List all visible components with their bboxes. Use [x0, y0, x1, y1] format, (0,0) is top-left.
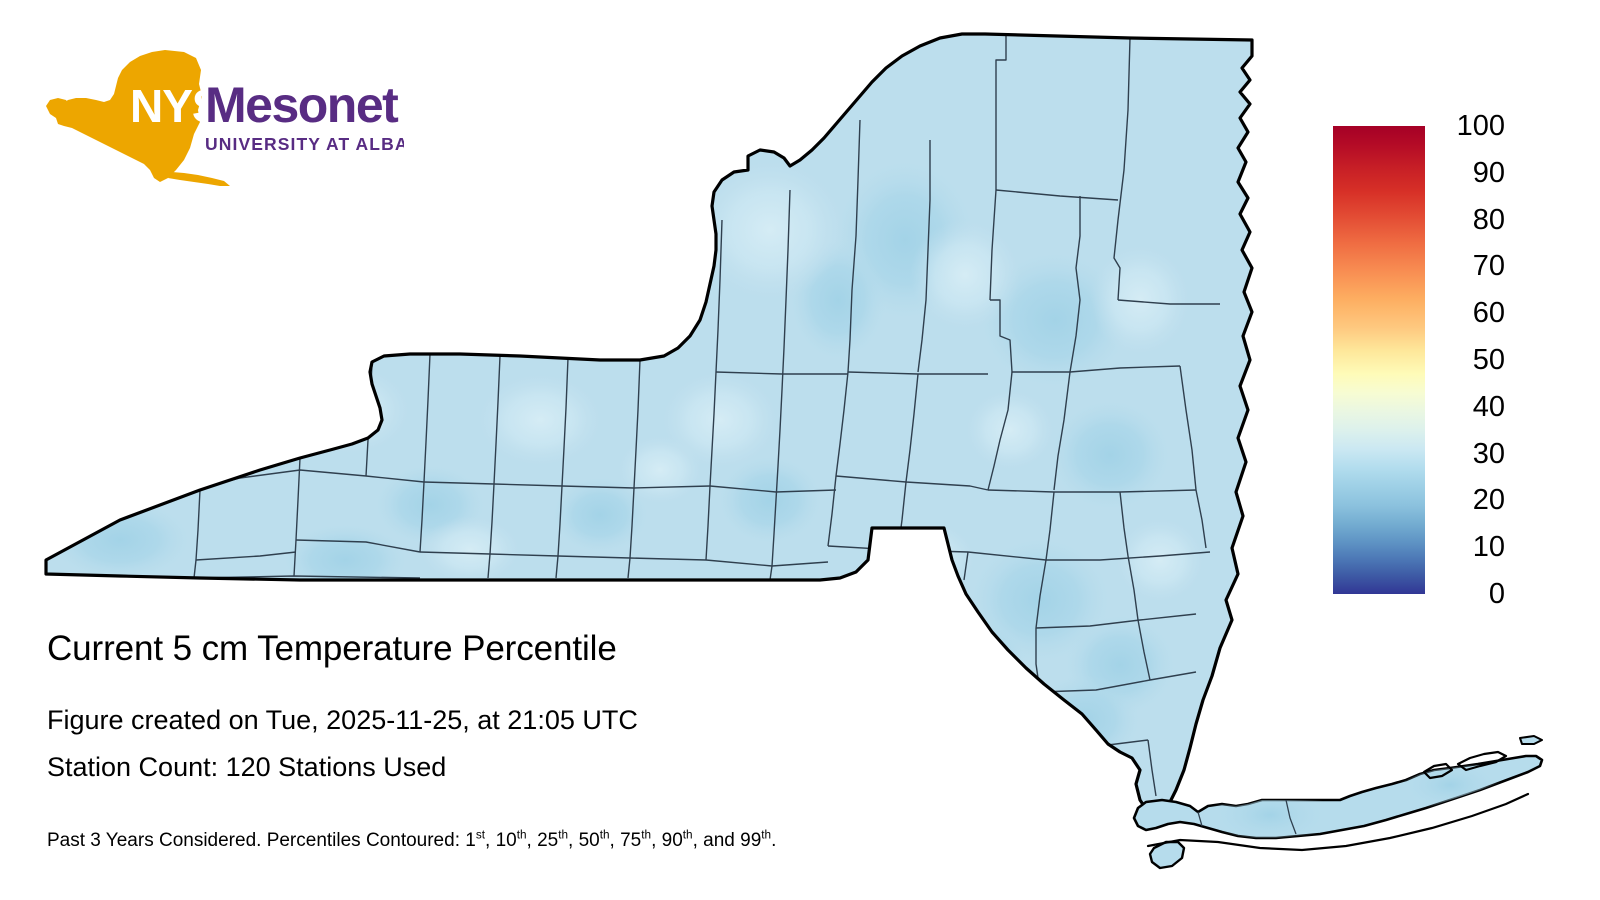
footnote-p4-suffix: th — [600, 829, 610, 842]
colorbar-tick-20: 20 — [1433, 486, 1505, 515]
figure-footnote: Past 3 Years Considered. Percentiles Con… — [47, 829, 776, 853]
long-island-map — [1050, 700, 1550, 890]
nys-mesonet-logo: NYS Mesonet UNIVERSITY AT ALBANY — [44, 48, 404, 188]
footnote-p7: 99 — [740, 830, 761, 851]
logo-svg: NYS Mesonet UNIVERSITY AT ALBANY — [44, 48, 404, 188]
figure-title: Current 5 cm Temperature Percentile — [47, 629, 617, 669]
colorbar-gradient — [1333, 126, 1425, 594]
colorbar-tick-60: 60 — [1433, 299, 1505, 328]
percentile-map-figure: NYS Mesonet UNIVERSITY AT ALBANY 100 90 … — [0, 0, 1600, 900]
logo-subtitle-text: UNIVERSITY AT ALBANY — [205, 134, 404, 154]
colorbar-tick-50: 50 — [1433, 346, 1505, 375]
footnote-conjunction: , and — [693, 830, 741, 851]
footnote-p5-suffix: th — [641, 829, 651, 842]
footnote-p2-suffix: th — [517, 829, 527, 842]
colorbar-tick-90: 90 — [1433, 159, 1505, 188]
long-island-fill — [1134, 736, 1542, 868]
logo-mesonet-text: Mesonet — [205, 77, 399, 133]
colorbar-tick-30: 30 — [1433, 440, 1505, 469]
footnote-p6-suffix: th — [683, 829, 693, 842]
footnote-p1-suffix: st — [476, 829, 485, 842]
figure-created-timestamp: Figure created on Tue, 2025-11-25, at 21… — [47, 704, 638, 736]
footnote-p6: 90 — [662, 830, 683, 851]
footnote-p3-suffix: th — [558, 829, 568, 842]
footnote-p3: 25 — [537, 830, 558, 851]
colorbar-tick-70: 70 — [1433, 252, 1505, 281]
colorbar-tick-40: 40 — [1433, 393, 1505, 422]
footnote-p1: 1 — [465, 830, 476, 851]
station-count-line: Station Count: 120 Stations Used — [47, 751, 446, 783]
colorbar-tick-80: 80 — [1433, 206, 1505, 235]
colorbar-tick-100: 100 — [1433, 112, 1505, 141]
footnote-p5: 75 — [620, 830, 641, 851]
footnote-end: . — [771, 830, 776, 851]
footnote-p7-suffix: th — [761, 829, 771, 842]
colorbar-tick-0: 0 — [1433, 580, 1505, 609]
footnote-p2: 10 — [496, 830, 517, 851]
footnote-p4: 50 — [579, 830, 600, 851]
footnote-lead: Past 3 Years Considered. Percentiles Con… — [47, 830, 465, 851]
colorbar-tick-labels: 100 90 80 70 60 50 40 30 20 10 0 — [1433, 126, 1505, 594]
colorbar-tick-10: 10 — [1433, 533, 1505, 562]
colorbar[interactable]: 100 90 80 70 60 50 40 30 20 10 0 — [1333, 126, 1425, 594]
